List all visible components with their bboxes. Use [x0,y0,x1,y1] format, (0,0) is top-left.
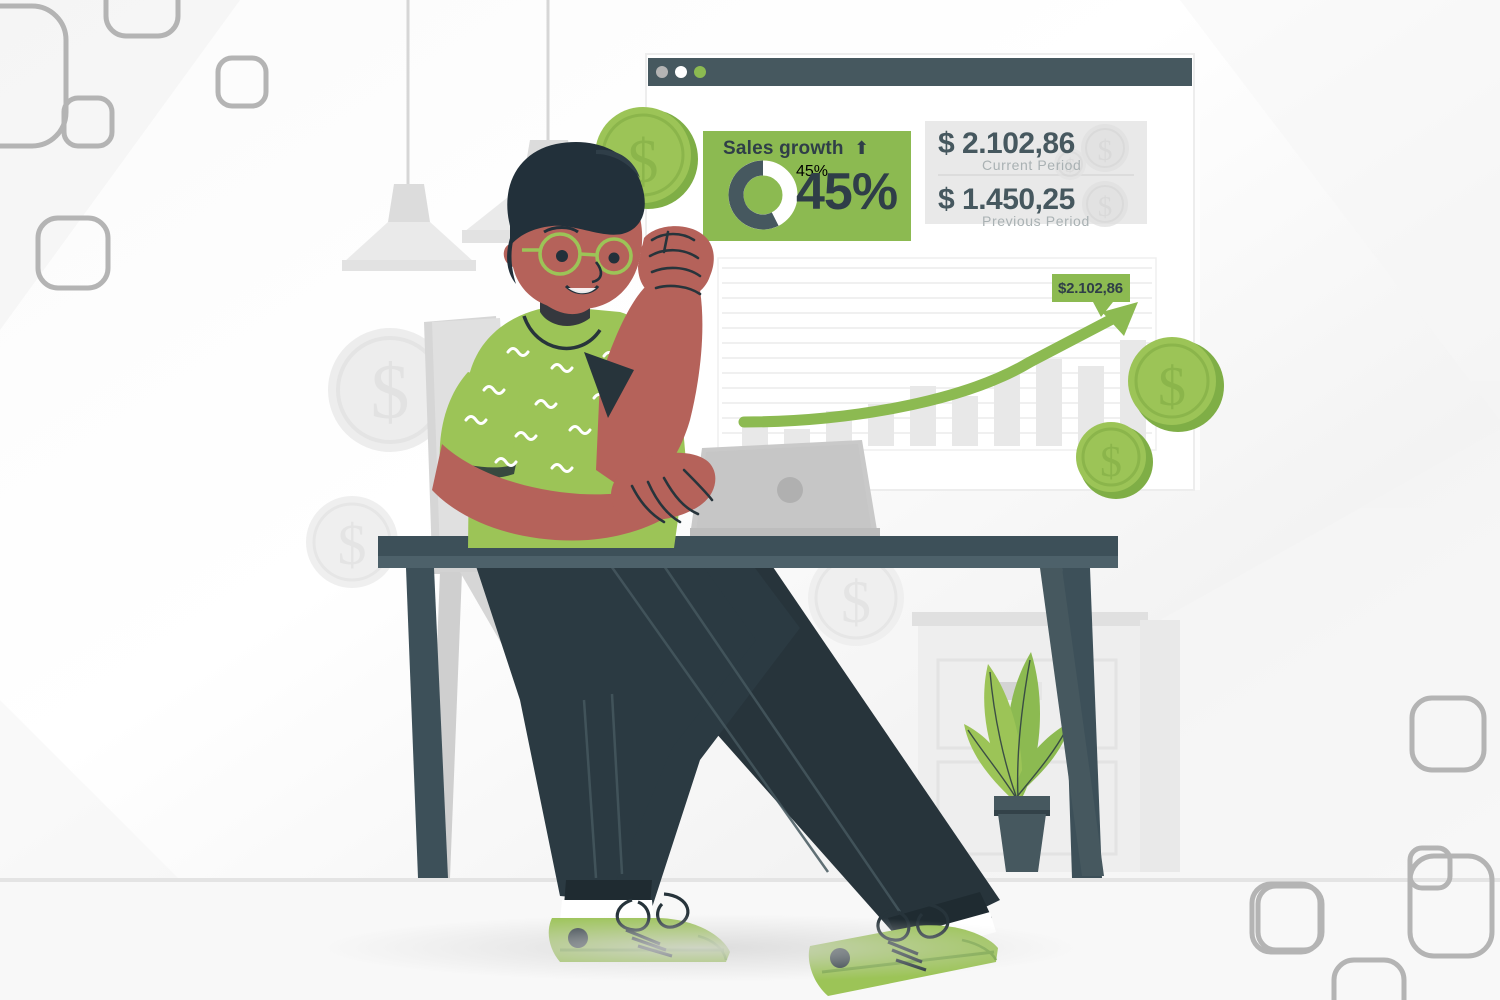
browser-dot-gray [656,66,668,78]
coin-ghost-kpi-c: $ [1081,124,1129,172]
laptop-logo [777,477,803,503]
browser-title-bar [648,58,1192,86]
svg-text:$: $ [371,348,410,435]
desk-top-edge [378,556,1118,568]
kpi-amount-current: $ 2.102,86 [938,127,1075,161]
chart-tooltip-value: $2.102,86 [1058,280,1123,297]
svg-text:$: $ [1098,134,1113,167]
chart-bar [952,396,978,446]
eye-right [609,253,620,264]
browser-dot-white [675,66,687,78]
floor-line [0,878,1500,882]
kpi-caption-previous: Previous Period [982,213,1090,229]
laptop [690,440,880,538]
svg-text:$: $ [1098,191,1113,223]
browser-dot-green [694,66,706,78]
floor-shadow [320,914,1080,982]
svg-text:$: $ [841,569,871,635]
kpi-caption-current: Current Period [982,157,1081,173]
chart-bar [1036,359,1062,446]
sales-growth-label-row: Sales growth ⬆ [723,138,903,160]
coin-dollar-glyph: $ [1158,356,1186,418]
coin-dollar-glyph: $ [1100,437,1122,486]
chart-bar [994,374,1020,446]
sales-growth-percent-value: 45% [796,162,897,222]
eye-left [556,250,568,262]
arrow-up-icon: ⬆ [854,138,869,158]
plant-pot [998,814,1046,872]
kpi-amount-previous: $ 1.450,25 [938,183,1075,217]
svg-text:$: $ [338,512,367,577]
illustration-canvas: Sales growth dashboard illustration [0,0,1500,1000]
head [504,142,645,310]
sales-growth-label: Sales growth [723,138,844,159]
